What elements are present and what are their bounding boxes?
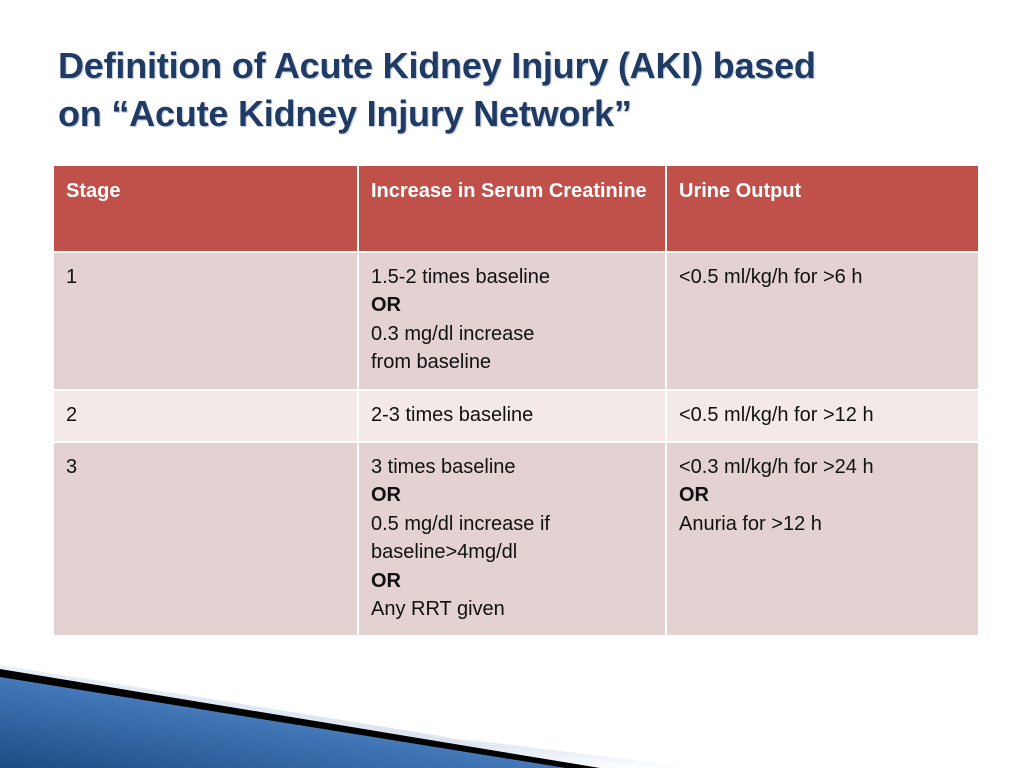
cell-creatinine-line: Any RRT given — [371, 595, 653, 623]
cell-urine-output-line: <0.5 ml/kg/h for >6 h — [679, 263, 966, 291]
column-header-creatinine: Increase in Serum Creatinine — [359, 166, 665, 251]
cell-urine-output-text: <0.5 ml/kg/h for >6 h — [679, 263, 966, 291]
table-row: 11.5-2 times baselineOR0.3 mg/dl increas… — [54, 253, 978, 389]
cell-urine-output: <0.3 ml/kg/h for >24 hORAnuria for >12 h — [667, 443, 978, 635]
cell-creatinine-text: 1.5-2 times baselineOR0.3 mg/dl increase… — [371, 263, 653, 377]
table-body: 11.5-2 times baselineOR0.3 mg/dl increas… — [54, 253, 978, 635]
page-title: Definition of Acute Kidney Injury (AKI) … — [58, 42, 958, 137]
corner-triangle-decoration — [0, 643, 700, 768]
cell-creatinine: 2-3 times baseline — [359, 391, 665, 441]
column-header-urine: Urine Output — [667, 166, 978, 251]
cell-urine-output-line: Anuria for >12 h — [679, 510, 966, 538]
cell-stage: 2 — [54, 391, 357, 441]
column-header-stage: Stage — [54, 166, 357, 251]
cell-stage: 1 — [54, 253, 357, 389]
cell-stage: 3 — [54, 443, 357, 635]
cell-creatinine-line: OR — [371, 567, 653, 595]
cell-creatinine-line: 0.3 mg/dl increase — [371, 320, 653, 348]
cell-creatinine-line: OR — [371, 481, 653, 509]
table-row: 33 times baselineOR0.5 mg/dl increase if… — [54, 443, 978, 635]
aki-definition-table: Stage Increase in Serum Creatinine Urine… — [52, 164, 980, 637]
table-header-row: Stage Increase in Serum Creatinine Urine… — [54, 166, 978, 251]
decoration-pale-band — [0, 665, 700, 768]
table-row: 22-3 times baseline<0.5 ml/kg/h for >12 … — [54, 391, 978, 441]
decoration-blue-triangle — [0, 677, 566, 768]
decoration-black-stripe — [0, 669, 600, 768]
cell-creatinine-line: 0.5 mg/dl increase if baseline>4mg/dl — [371, 510, 653, 567]
cell-urine-output-line: OR — [679, 481, 966, 509]
cell-creatinine: 3 times baselineOR0.5 mg/dl increase if … — [359, 443, 665, 635]
cell-creatinine-line: 2-3 times baseline — [371, 401, 653, 429]
cell-creatinine-line: from baseline — [371, 348, 653, 376]
cell-creatinine-line: OR — [371, 291, 653, 319]
cell-urine-output: <0.5 ml/kg/h for >6 h — [667, 253, 978, 389]
cell-creatinine-text: 3 times baselineOR0.5 mg/dl increase if … — [371, 453, 653, 623]
cell-urine-output-text: <0.3 ml/kg/h for >24 hORAnuria for >12 h — [679, 453, 966, 538]
cell-urine-output: <0.5 ml/kg/h for >12 h — [667, 391, 978, 441]
cell-creatinine: 1.5-2 times baselineOR0.3 mg/dl increase… — [359, 253, 665, 389]
cell-creatinine-line: 3 times baseline — [371, 453, 653, 481]
cell-urine-output-line: <0.5 ml/kg/h for >12 h — [679, 401, 966, 429]
cell-urine-output-line: <0.3 ml/kg/h for >24 h — [679, 453, 966, 481]
cell-urine-output-text: <0.5 ml/kg/h for >12 h — [679, 401, 966, 429]
cell-creatinine-line: 1.5-2 times baseline — [371, 263, 653, 291]
decoration-pale-band-2 — [0, 673, 655, 768]
cell-creatinine-text: 2-3 times baseline — [371, 401, 653, 429]
